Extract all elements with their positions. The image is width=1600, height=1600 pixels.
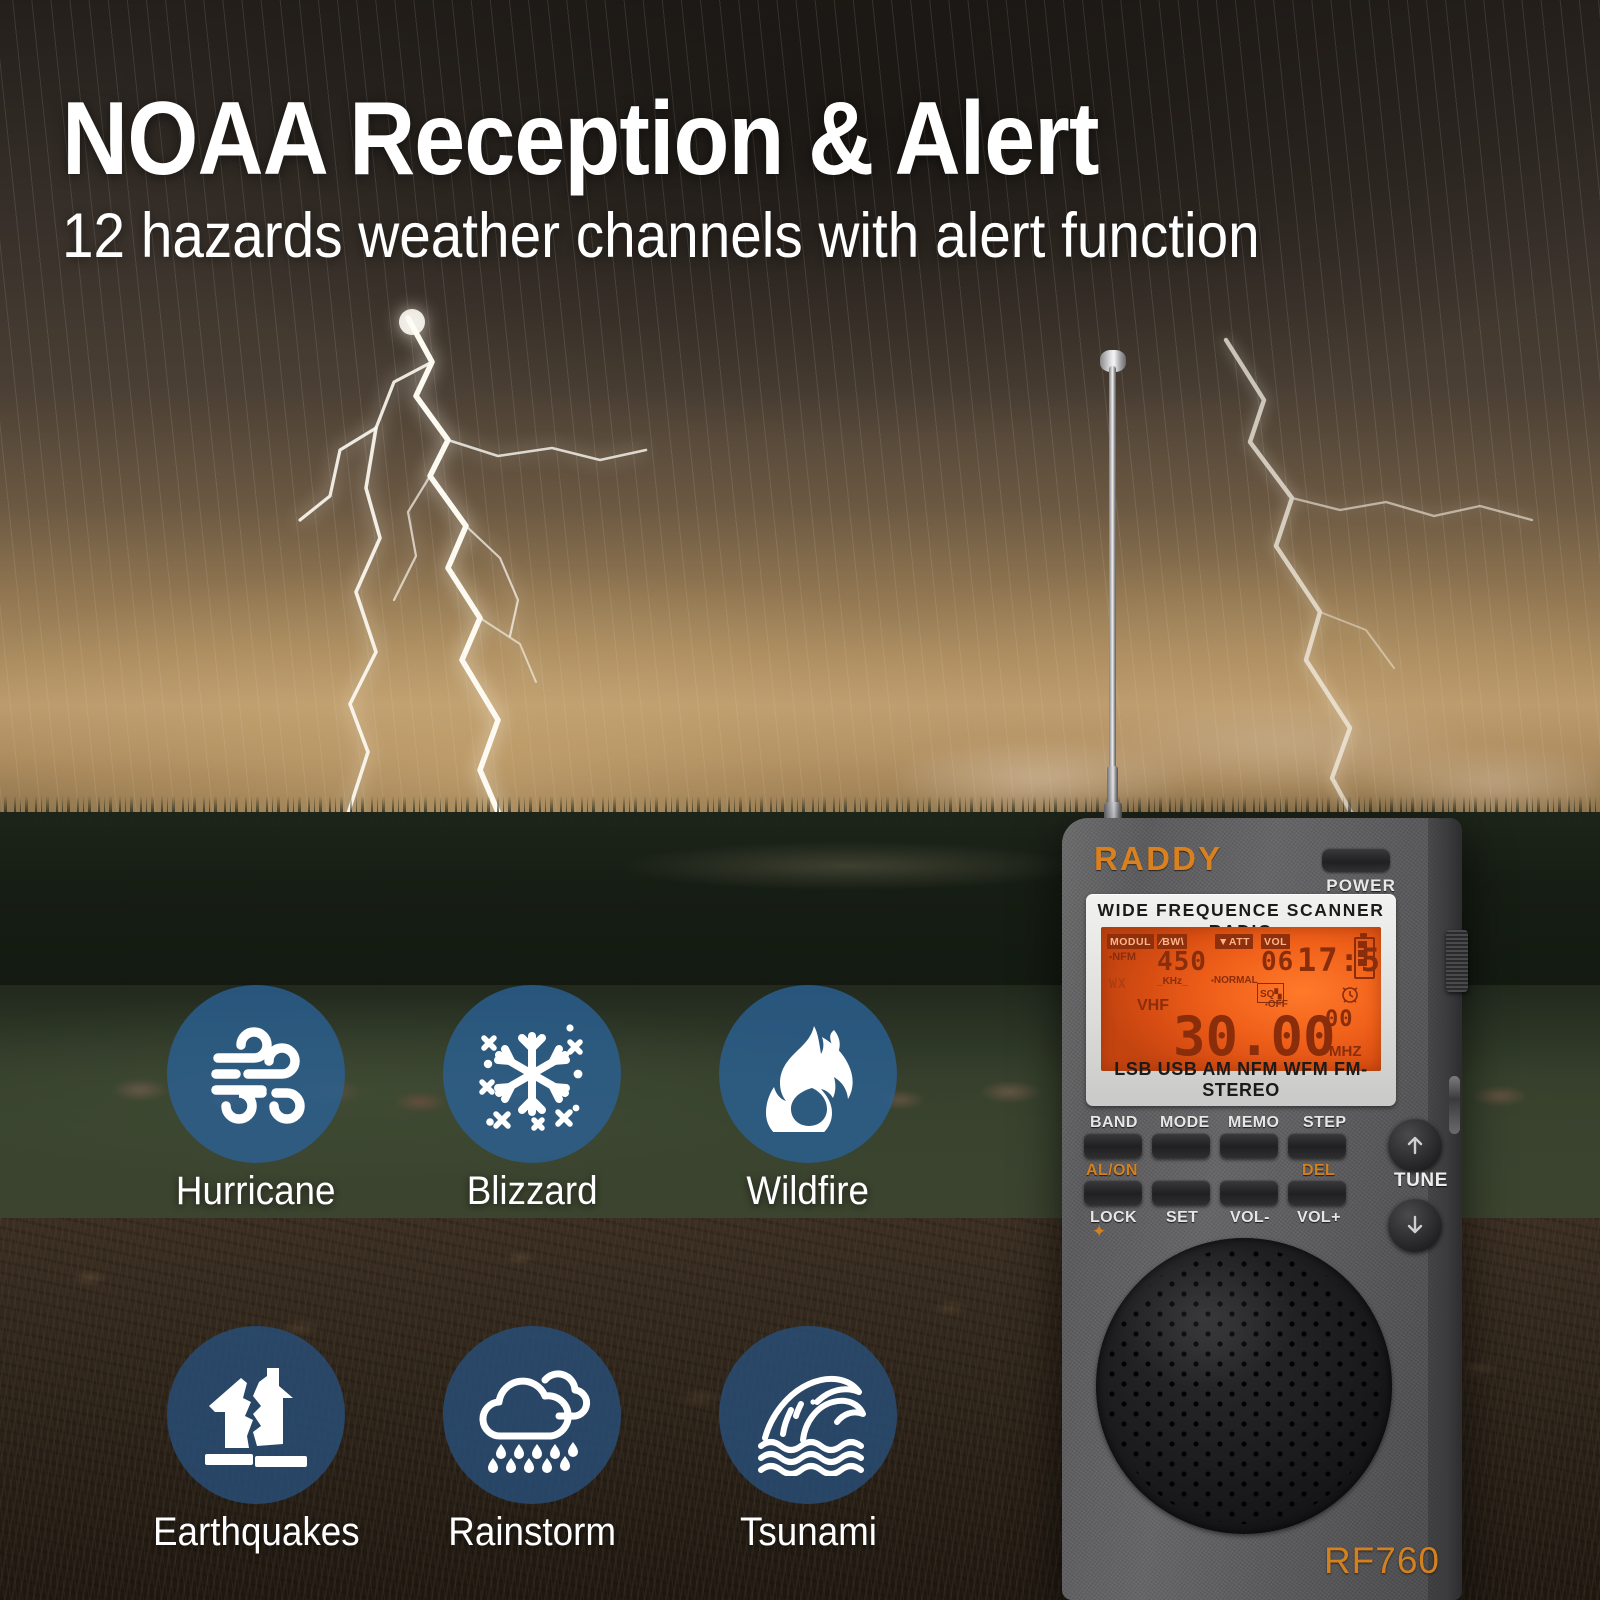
side-tuning-knob[interactable] [1446, 930, 1468, 992]
hazard-item-hurricane[interactable]: Hurricane [118, 985, 394, 1214]
lcd-frequency-unit: MHZ [1329, 1043, 1362, 1060]
hazard-grid: Hurricane [118, 985, 948, 1555]
promo-banner: NOAA Reception & Alert 12 hazards weathe… [0, 0, 1600, 1600]
hazard-icon-circle [167, 985, 345, 1163]
tune-up-button[interactable] [1388, 1118, 1442, 1172]
vol-down-button[interactable] [1220, 1180, 1278, 1205]
hazard-label: Earthquakes [153, 1510, 360, 1555]
lcd-frequency-decimals: 00 [1325, 1007, 1354, 1032]
vol-up-button[interactable] [1288, 1180, 1346, 1205]
button-label-vol-down: VOL- [1230, 1209, 1270, 1227]
radio-device: RADDY POWER WIDE FREQUENCE SCANNER RADIO… [1062, 818, 1462, 1600]
lcd-att-value: ▪NORMAL [1211, 975, 1258, 986]
hazard-icon-circle [167, 1326, 345, 1504]
arrow-down-icon [1402, 1212, 1428, 1238]
power-button-label: POWER [1326, 876, 1396, 896]
arrow-up-icon [1402, 1132, 1428, 1158]
button-label-del: DEL [1302, 1162, 1335, 1180]
button-label-set: SET [1166, 1209, 1198, 1227]
tune-down-button[interactable] [1388, 1198, 1442, 1252]
set-button[interactable] [1152, 1180, 1210, 1205]
page-subtitle: 12 hazards weather channels with alert f… [62, 202, 1446, 270]
control-buttons: BAND MODE MEMO STEP AL/ON DEL LOCK SET V… [1084, 1114, 1384, 1234]
lock-indicator-icon: ✦ [1092, 1222, 1106, 1242]
lcd-vol-value: 06 [1261, 947, 1294, 977]
band-button[interactable] [1084, 1133, 1142, 1158]
wind-icon [196, 1014, 316, 1134]
lcd-modul-value: ▪NFM [1109, 951, 1136, 963]
step-button[interactable] [1288, 1133, 1346, 1158]
flame-icon [750, 1016, 866, 1132]
lcd-ghost-segments: WX [1109, 977, 1127, 992]
hazard-label: Tsunami [739, 1510, 876, 1555]
hazard-row-2: Earthquakes [118, 1326, 948, 1555]
hazard-icon-circle [443, 985, 621, 1163]
lcd-att-header: ▼ATT [1215, 934, 1253, 949]
lcd-screen: WX MODUL ▪NFM ∕BW\ 450 _KHz_ ▼ATT ▪NORMA… [1101, 927, 1381, 1071]
lcd-panel: WIDE FREQUENCE SCANNER RADIO WX MODUL ▪N… [1086, 894, 1396, 1106]
alarm-clock-icon [1339, 983, 1361, 1005]
hazard-item-blizzard[interactable]: Blizzard [394, 985, 670, 1214]
lcd-bw-unit: _KHz_ [1157, 976, 1188, 987]
button-label-mode: MODE [1160, 1114, 1210, 1132]
button-label-step: STEP [1303, 1114, 1346, 1132]
hazard-icon-circle [719, 985, 897, 1163]
hazard-item-rainstorm[interactable]: Rainstorm [394, 1326, 670, 1555]
lcd-band-label: VHF [1137, 997, 1169, 1015]
lcd-modes-text: LSB USB AM NFM WFM FM-STEREO [1086, 1059, 1396, 1101]
button-label-vol-up: VOL+ [1297, 1209, 1341, 1227]
hazard-icon-circle [719, 1326, 897, 1504]
battery-indicator [1354, 937, 1375, 979]
hazard-label: Hurricane [176, 1169, 336, 1214]
hazard-label: Wildfire [747, 1169, 870, 1214]
mode-button[interactable] [1152, 1133, 1210, 1158]
button-label-alon: AL/ON [1086, 1162, 1138, 1180]
model-number: RF760 [1324, 1540, 1440, 1582]
page-title: NOAA Reception & Alert [62, 86, 1415, 192]
hazard-item-tsunami[interactable]: Tsunami [670, 1326, 946, 1555]
side-jack-port[interactable] [1449, 1076, 1460, 1134]
hazard-label: Rainstorm [448, 1510, 616, 1555]
rain-cloud-icon [471, 1354, 593, 1476]
power-button[interactable] [1322, 848, 1390, 872]
hazard-item-earthquakes[interactable]: Earthquakes [118, 1326, 394, 1555]
lock-button[interactable] [1084, 1180, 1142, 1205]
lcd-modul-header: MODUL [1107, 934, 1154, 949]
house-crack-icon [197, 1356, 315, 1474]
hazard-label: Blizzard [467, 1169, 598, 1214]
brand-logo: RADDY [1094, 840, 1222, 878]
button-label-band: BAND [1090, 1114, 1138, 1132]
button-label-memo: MEMO [1228, 1114, 1279, 1132]
wave-icon [747, 1354, 869, 1476]
lcd-bw-value: 450 [1157, 947, 1207, 977]
memo-button[interactable] [1220, 1133, 1278, 1158]
tune-label: TUNE [1394, 1170, 1448, 1192]
hazard-icon-circle [443, 1326, 621, 1504]
hazard-row-1: Hurricane [118, 985, 948, 1214]
speaker-grille [1096, 1238, 1392, 1534]
snowflake-icon [470, 1012, 594, 1136]
antenna-rod [1109, 366, 1116, 806]
speaker-sheen [1096, 1238, 1392, 1534]
telescopic-antenna[interactable] [1088, 336, 1138, 836]
hazard-item-wildfire[interactable]: Wildfire [670, 985, 946, 1214]
headline-block: NOAA Reception & Alert 12 hazards weathe… [0, 86, 1600, 270]
